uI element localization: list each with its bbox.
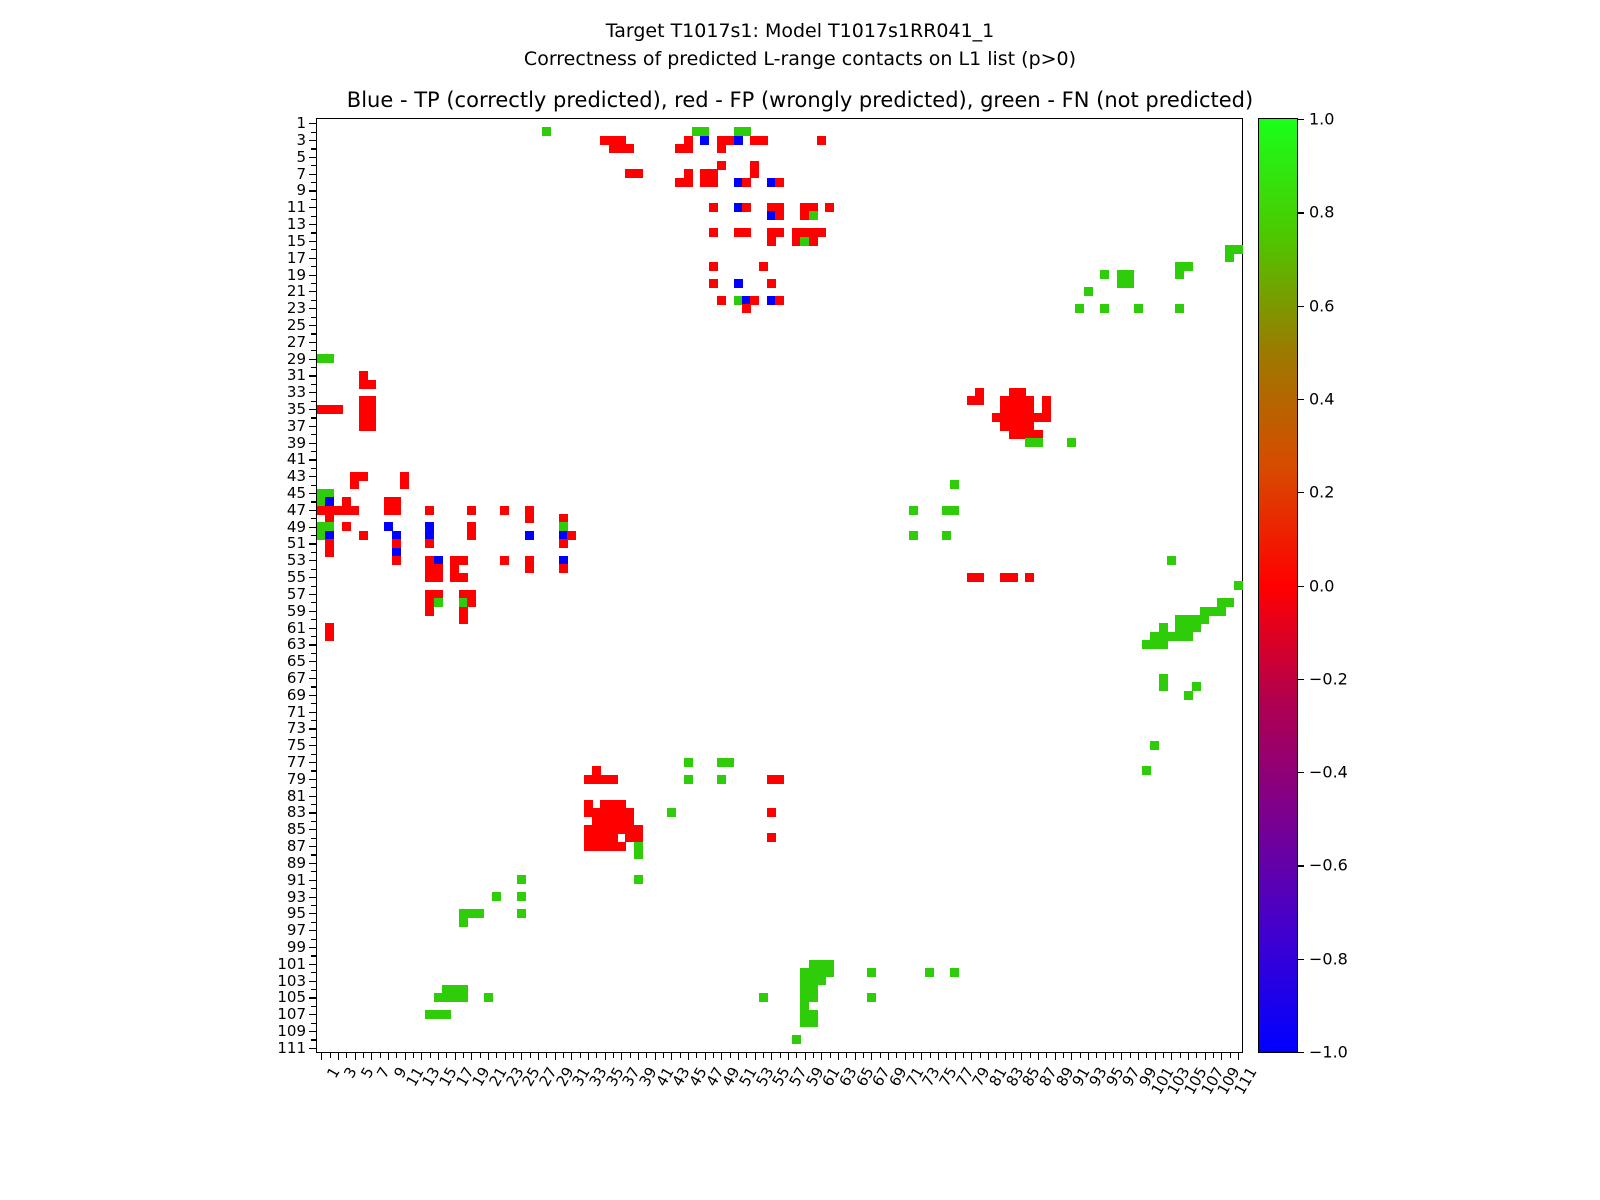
y-axis-tick-label: 9 (296, 181, 306, 199)
x-axis-tick (346, 1052, 347, 1058)
x-axis-tick (471, 1052, 472, 1060)
x-axis-tick (455, 1052, 456, 1060)
y-axis-tick (311, 401, 317, 402)
contact-cell (775, 211, 784, 220)
contact-cell (625, 144, 634, 153)
y-axis-tick (311, 989, 317, 990)
y-axis-tick (311, 703, 317, 704)
y-axis-tick (311, 384, 317, 385)
y-axis-tick (309, 275, 317, 276)
colorbar-tick-label: −0.2 (1309, 669, 1348, 688)
contact-cell (434, 573, 443, 582)
contact-cell (1234, 581, 1243, 590)
contact-cell (1184, 632, 1193, 641)
y-axis-tick (309, 812, 317, 813)
contact-cell (467, 506, 476, 515)
y-axis-tick (311, 871, 317, 872)
y-axis-tick-label: 33 (287, 383, 306, 401)
x-axis-tick (1030, 1052, 1031, 1058)
y-axis-tick (311, 148, 317, 149)
y-axis-tick (309, 728, 317, 729)
contact-cell (950, 506, 959, 515)
contact-cell (325, 548, 334, 557)
y-axis-tick (311, 165, 317, 166)
contact-cell (367, 380, 376, 389)
y-axis-tick-label: 27 (287, 333, 306, 351)
y-axis-tick-label: 45 (287, 484, 306, 502)
contact-cell (1225, 598, 1234, 607)
colorbar-tick-label: 1.0 (1309, 110, 1334, 129)
x-axis-tick (730, 1052, 731, 1058)
x-axis-tick (1213, 1052, 1214, 1058)
y-axis-tick (311, 501, 317, 502)
y-axis-tick (309, 863, 317, 864)
contact-cell (775, 296, 784, 305)
y-axis-tick (309, 1031, 317, 1032)
colorbar-tick-label: 0.0 (1309, 576, 1334, 595)
contact-cell (767, 237, 776, 246)
contact-cell (775, 178, 784, 187)
y-axis-tick-label: 49 (287, 518, 306, 536)
y-axis-tick (311, 754, 317, 755)
y-axis-tick (311, 686, 317, 687)
contact-cell (592, 766, 601, 775)
contact-map-axes[interactable]: 1357911131517192123252729313335373941434… (316, 118, 1243, 1053)
contact-cell (1217, 607, 1226, 616)
x-axis-tick (971, 1052, 972, 1060)
x-axis-tick (1171, 1052, 1172, 1060)
x-axis-tick (446, 1052, 447, 1058)
contact-cell (634, 169, 643, 178)
contact-cell (817, 136, 826, 145)
y-axis-tick-label: 99 (287, 938, 306, 956)
contact-cell (367, 422, 376, 431)
contact-cell (1084, 287, 1093, 296)
contact-cell (1067, 438, 1076, 447)
contact-cell (667, 808, 676, 817)
x-axis-tick (430, 1052, 431, 1058)
contact-cell (717, 296, 726, 305)
contact-cell (425, 506, 434, 515)
y-axis-tick-label: 21 (287, 282, 306, 300)
y-axis-tick (309, 762, 317, 763)
x-axis-tick (596, 1052, 597, 1058)
colorbar-tick (1297, 1052, 1304, 1053)
x-axis-tick (1230, 1052, 1231, 1058)
y-axis-tick (311, 602, 317, 603)
contact-cell (809, 211, 818, 220)
colorbar-tick (1297, 772, 1304, 773)
x-axis-tick (771, 1052, 772, 1060)
y-axis-tick (309, 174, 317, 175)
y-axis-tick (311, 787, 317, 788)
colorbar-tick-label: −0.8 (1309, 949, 1348, 968)
contact-cell (975, 396, 984, 405)
y-axis-tick (309, 409, 317, 410)
y-axis-tick (309, 628, 317, 629)
y-axis-tick-label: 111 (277, 1039, 306, 1057)
x-axis-tick (321, 1052, 322, 1060)
y-axis-tick-label: 1 (296, 114, 306, 132)
x-axis-tick (1038, 1052, 1039, 1060)
colorbar-tick-label: −1.0 (1309, 1043, 1348, 1062)
x-axis-tick (863, 1052, 864, 1058)
x-axis-tick (555, 1052, 556, 1060)
x-axis-tick (330, 1052, 331, 1058)
x-axis-tick (571, 1052, 572, 1060)
contact-map-cells (317, 119, 1242, 1052)
x-axis-tick (1088, 1052, 1089, 1060)
x-axis-tick (646, 1052, 647, 1058)
y-axis-tick (309, 375, 317, 376)
contact-cell (1225, 253, 1234, 262)
y-axis-tick (309, 997, 317, 998)
x-axis-tick (1130, 1052, 1131, 1058)
x-axis-tick (680, 1052, 681, 1058)
contact-cell (700, 136, 709, 145)
y-axis-tick (309, 712, 317, 713)
y-axis-tick-label: 91 (287, 871, 306, 889)
contact-cell (392, 556, 401, 565)
y-axis-tick (309, 644, 317, 645)
y-axis-tick-label: 75 (287, 736, 306, 754)
contact-cell (400, 480, 409, 489)
y-axis-tick-label: 47 (287, 501, 306, 519)
x-axis-tick (1055, 1052, 1056, 1060)
y-axis-tick (311, 468, 317, 469)
y-axis-tick-label: 55 (287, 568, 306, 586)
x-axis-tick (871, 1052, 872, 1060)
y-axis-tick-label: 101 (277, 955, 306, 973)
y-axis-tick-label: 31 (287, 366, 306, 384)
contact-cell (425, 607, 434, 616)
y-axis-tick-label: 89 (287, 854, 306, 872)
contact-cell (717, 161, 726, 170)
y-axis-tick (311, 888, 317, 889)
x-axis-tick (938, 1052, 939, 1060)
contact-cell (559, 564, 568, 573)
y-axis-tick (309, 140, 317, 141)
contact-cell (709, 178, 718, 187)
x-axis-tick (805, 1052, 806, 1060)
contact-cell (1175, 304, 1184, 313)
y-axis-tick-label: 81 (287, 787, 306, 805)
contact-cell (709, 228, 718, 237)
contact-cell (825, 203, 834, 212)
x-axis-tick (963, 1052, 964, 1058)
x-axis-tick (338, 1052, 339, 1060)
contact-cell (950, 480, 959, 489)
contact-cell (359, 531, 368, 540)
colorbar-tick-label: −0.4 (1309, 763, 1348, 782)
contact-cell (817, 976, 826, 985)
y-axis-tick (309, 913, 317, 914)
y-axis-tick (309, 426, 317, 427)
contact-cell (559, 539, 568, 548)
x-axis-tick (463, 1052, 464, 1058)
x-axis-tick (355, 1052, 356, 1060)
x-axis-tick (421, 1052, 422, 1060)
y-axis-tick (311, 485, 317, 486)
x-axis-tick (713, 1052, 714, 1058)
y-axis-tick-label: 17 (287, 249, 306, 267)
contact-cell (867, 993, 876, 1002)
contact-cell (759, 262, 768, 271)
contact-cell (1075, 304, 1084, 313)
contact-cell (725, 758, 734, 767)
contact-cell (1142, 766, 1151, 775)
y-axis-tick (311, 922, 317, 923)
contact-cell (459, 993, 468, 1002)
contact-cell (484, 993, 493, 1002)
y-axis-tick (309, 695, 317, 696)
y-axis-tick-label: 65 (287, 652, 306, 670)
contact-cell (709, 279, 718, 288)
axes-title: Blue - TP (correctly predicted), red - F… (0, 88, 1600, 112)
contact-cell (1042, 413, 1051, 422)
x-axis-tick (563, 1052, 564, 1058)
y-axis-tick-label: 29 (287, 350, 306, 368)
y-axis-tick (309, 308, 317, 309)
contact-cell (750, 169, 759, 178)
y-axis-tick-label: 53 (287, 551, 306, 569)
contact-cell (717, 775, 726, 784)
y-axis-tick (311, 350, 317, 351)
contact-cell (809, 993, 818, 1002)
y-axis-tick (309, 930, 317, 931)
x-axis-tick (1155, 1052, 1156, 1060)
y-axis-tick (311, 586, 317, 587)
contact-cell (909, 506, 918, 515)
y-axis-tick (311, 955, 317, 956)
contact-cell (1159, 682, 1168, 691)
y-axis-tick (311, 266, 317, 267)
contact-cell (459, 615, 468, 624)
x-axis-tick (613, 1052, 614, 1058)
x-axis-tick (371, 1052, 372, 1060)
x-axis-tick (896, 1052, 897, 1058)
figure-suptitle: Target T1017s1: Model T1017s1RR041_1Corr… (0, 18, 1600, 73)
y-axis-tick-label: 61 (287, 619, 306, 637)
y-axis-tick (309, 678, 317, 679)
y-axis-tick-label: 107 (277, 1005, 306, 1023)
y-axis-tick (311, 619, 317, 620)
x-axis-tick (830, 1052, 831, 1058)
x-axis-tick (1071, 1052, 1072, 1060)
x-axis-tick (438, 1052, 439, 1060)
y-axis-tick (309, 577, 317, 578)
contact-cell (525, 531, 534, 540)
y-axis-tick-label: 43 (287, 467, 306, 485)
y-axis-tick (311, 838, 317, 839)
x-axis-tick (955, 1052, 956, 1060)
y-axis-tick (309, 846, 317, 847)
x-axis-tick (671, 1052, 672, 1060)
y-axis-tick (311, 283, 317, 284)
contact-cell (792, 1035, 801, 1044)
x-axis-tick (855, 1052, 856, 1060)
y-axis-tick (309, 745, 317, 746)
y-axis-tick (309, 611, 317, 612)
contact-cell (942, 531, 951, 540)
x-axis-tick (796, 1052, 797, 1058)
y-axis-tick (311, 451, 317, 452)
y-axis-tick (309, 1014, 317, 1015)
colorbar: 1.00.80.60.40.20.0−0.2−0.4−0.6−0.8−1.0 (1258, 118, 1298, 1053)
x-axis-tick (546, 1052, 547, 1058)
contact-cell (567, 531, 576, 540)
x-axis-tick (846, 1052, 847, 1058)
x-axis-tick (763, 1052, 764, 1058)
suptitle-line-2: Correctness of predicted L-range contact… (524, 48, 1076, 70)
y-axis-tick-label: 57 (287, 585, 306, 603)
contact-cell (459, 556, 468, 565)
contact-cell (492, 892, 501, 901)
colorbar-tick-label: 0.8 (1309, 203, 1334, 222)
y-axis-tick (311, 854, 317, 855)
y-axis-tick (309, 661, 317, 662)
x-axis-tick (1146, 1052, 1147, 1058)
contact-cell (684, 178, 693, 187)
x-axis-tick (396, 1052, 397, 1058)
x-axis-tick (888, 1052, 889, 1060)
x-axis-tick (505, 1052, 506, 1060)
x-axis-tick (913, 1052, 914, 1058)
x-axis-tick (488, 1052, 489, 1060)
x-axis-tick (1063, 1052, 1064, 1058)
contact-cell (442, 1010, 451, 1019)
x-axis-tick (1188, 1052, 1189, 1060)
x-axis-tick (605, 1052, 606, 1060)
x-axis-tick (1205, 1052, 1206, 1060)
contact-cell (709, 262, 718, 271)
x-axis-tick (580, 1052, 581, 1058)
y-axis-tick (311, 905, 317, 906)
y-axis-tick-label: 51 (287, 534, 306, 552)
x-axis-tick (530, 1052, 531, 1058)
contact-cell (1234, 245, 1243, 254)
colorbar-tick-label: 0.2 (1309, 483, 1334, 502)
x-axis-tick (1138, 1052, 1139, 1060)
y-axis-tick-label: 7 (296, 165, 306, 183)
x-axis-tick (1096, 1052, 1097, 1058)
y-axis-tick (311, 720, 317, 721)
contact-cell (767, 808, 776, 817)
y-axis-tick (309, 241, 317, 242)
y-axis-tick (309, 560, 317, 561)
contact-cell (634, 850, 643, 859)
y-axis-tick-label: 15 (287, 232, 306, 250)
contact-cell (359, 472, 368, 481)
contact-cell (1100, 270, 1109, 279)
y-axis-tick (311, 569, 317, 570)
contact-cell (634, 875, 643, 884)
contact-cell (742, 228, 751, 237)
y-axis-tick-label: 39 (287, 434, 306, 452)
x-axis-tick (821, 1052, 822, 1060)
y-axis-tick (311, 232, 317, 233)
x-axis-tick (1121, 1052, 1122, 1060)
x-axis-tick (905, 1052, 906, 1060)
x-axis-tick (380, 1052, 381, 1058)
contact-cell (350, 480, 359, 489)
x-axis-tick (538, 1052, 539, 1060)
y-axis-tick (309, 359, 317, 360)
y-axis-tick (311, 1039, 317, 1040)
y-axis-tick (311, 434, 317, 435)
y-axis-tick (311, 636, 317, 637)
y-axis-tick (311, 821, 317, 822)
y-axis-tick-label: 37 (287, 417, 306, 435)
y-axis-tick (311, 552, 317, 553)
x-axis-tick (513, 1052, 514, 1058)
y-axis-tick-label: 77 (287, 753, 306, 771)
y-axis-tick-label: 105 (277, 988, 306, 1006)
contact-cell (1150, 741, 1159, 750)
contact-cell (1025, 573, 1034, 582)
contact-cell (1034, 438, 1043, 447)
x-axis-tick (521, 1052, 522, 1060)
colorbar-tick-label: 0.4 (1309, 389, 1334, 408)
contact-cell (809, 1018, 818, 1027)
x-axis-tick (630, 1052, 631, 1058)
y-axis-tick (311, 770, 317, 771)
y-axis-tick (311, 132, 317, 133)
contact-cell (1175, 270, 1184, 279)
y-axis-tick-label: 13 (287, 215, 306, 233)
contact-cell (500, 556, 509, 565)
x-axis-tick (921, 1052, 922, 1060)
contact-cell (542, 127, 551, 136)
contact-cell (459, 573, 468, 582)
y-axis-tick-label: 79 (287, 770, 306, 788)
contact-cell (334, 405, 343, 414)
y-axis-tick-label: 97 (287, 921, 306, 939)
contact-cell (475, 909, 484, 918)
contact-cell (425, 539, 434, 548)
y-axis-tick (309, 190, 317, 191)
contact-cell (325, 632, 334, 641)
contact-cell (467, 598, 476, 607)
contact-cell (342, 522, 351, 531)
x-axis-tick (413, 1052, 414, 1058)
y-axis-tick-label: 23 (287, 299, 306, 317)
y-axis-tick (309, 527, 317, 528)
contact-cell (775, 228, 784, 237)
contact-cell (1009, 573, 1018, 582)
y-axis-tick (311, 1006, 317, 1007)
colorbar-tick (1297, 399, 1304, 400)
y-axis-tick (309, 258, 317, 259)
y-axis-tick-label: 63 (287, 635, 306, 653)
y-axis-tick (309, 476, 317, 477)
contact-cell (525, 514, 534, 523)
y-axis-tick-label: 93 (287, 888, 306, 906)
contact-cell (609, 775, 618, 784)
contact-cell (767, 833, 776, 842)
x-axis-tick (638, 1052, 639, 1060)
y-axis-tick (311, 199, 317, 200)
y-axis-tick-label: 73 (287, 719, 306, 737)
y-axis-tick (309, 443, 317, 444)
contact-cell (742, 304, 751, 313)
contact-cell (459, 918, 468, 927)
y-axis-tick (309, 947, 317, 948)
x-axis-tick (588, 1052, 589, 1060)
x-axis-tick (980, 1052, 981, 1058)
y-axis-tick (311, 518, 317, 519)
x-axis-tick (688, 1052, 689, 1060)
